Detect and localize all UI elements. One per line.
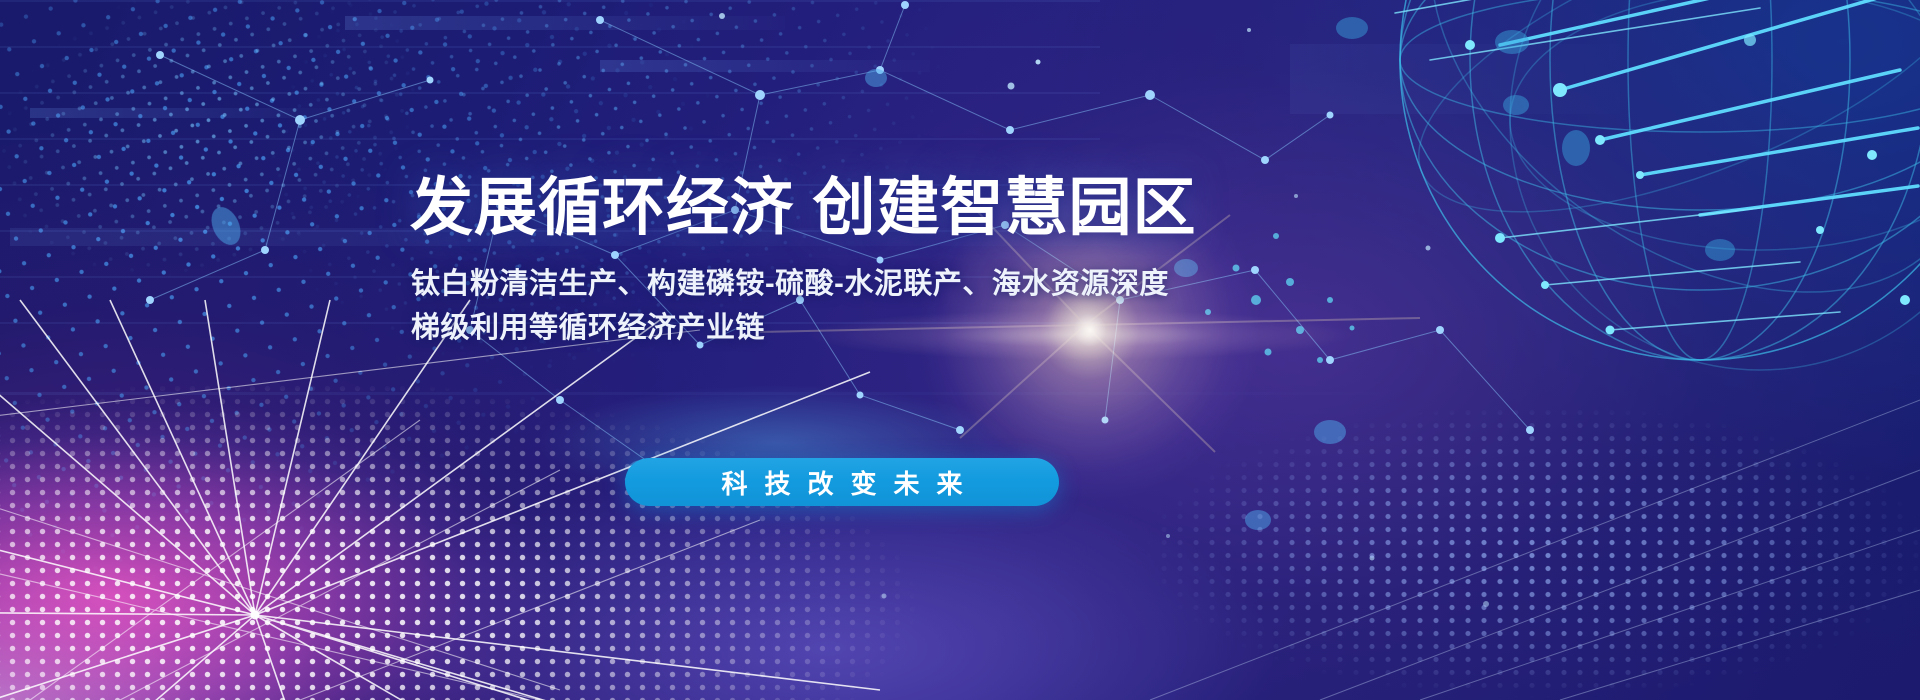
banner-headline: 发展循环经济 创建智慧园区	[410, 173, 1190, 244]
promo-banner: 发展循环经济 创建智慧园区 钛白粉清洁生产、构建磷铵-硫酸-水泥联产、海水资源深…	[0, 0, 1920, 700]
subtitle-line-2: 梯级利用等循环经济产业链	[411, 306, 1191, 350]
banner-subtitle: 钛白粉清洁生产、构建磷铵-硫酸-水泥联产、海水资源深度 梯级利用等循环经济产业链	[411, 262, 1191, 350]
slogan-cta-button[interactable]: 科技改变未来	[625, 458, 1059, 506]
banner-content: 发展循环经济 创建智慧园区 钛白粉清洁生产、构建磷铵-硫酸-水泥联产、海水资源深…	[0, 0, 1920, 700]
subtitle-line-1: 钛白粉清洁生产、构建磷铵-硫酸-水泥联产、海水资源深度	[411, 262, 1191, 306]
